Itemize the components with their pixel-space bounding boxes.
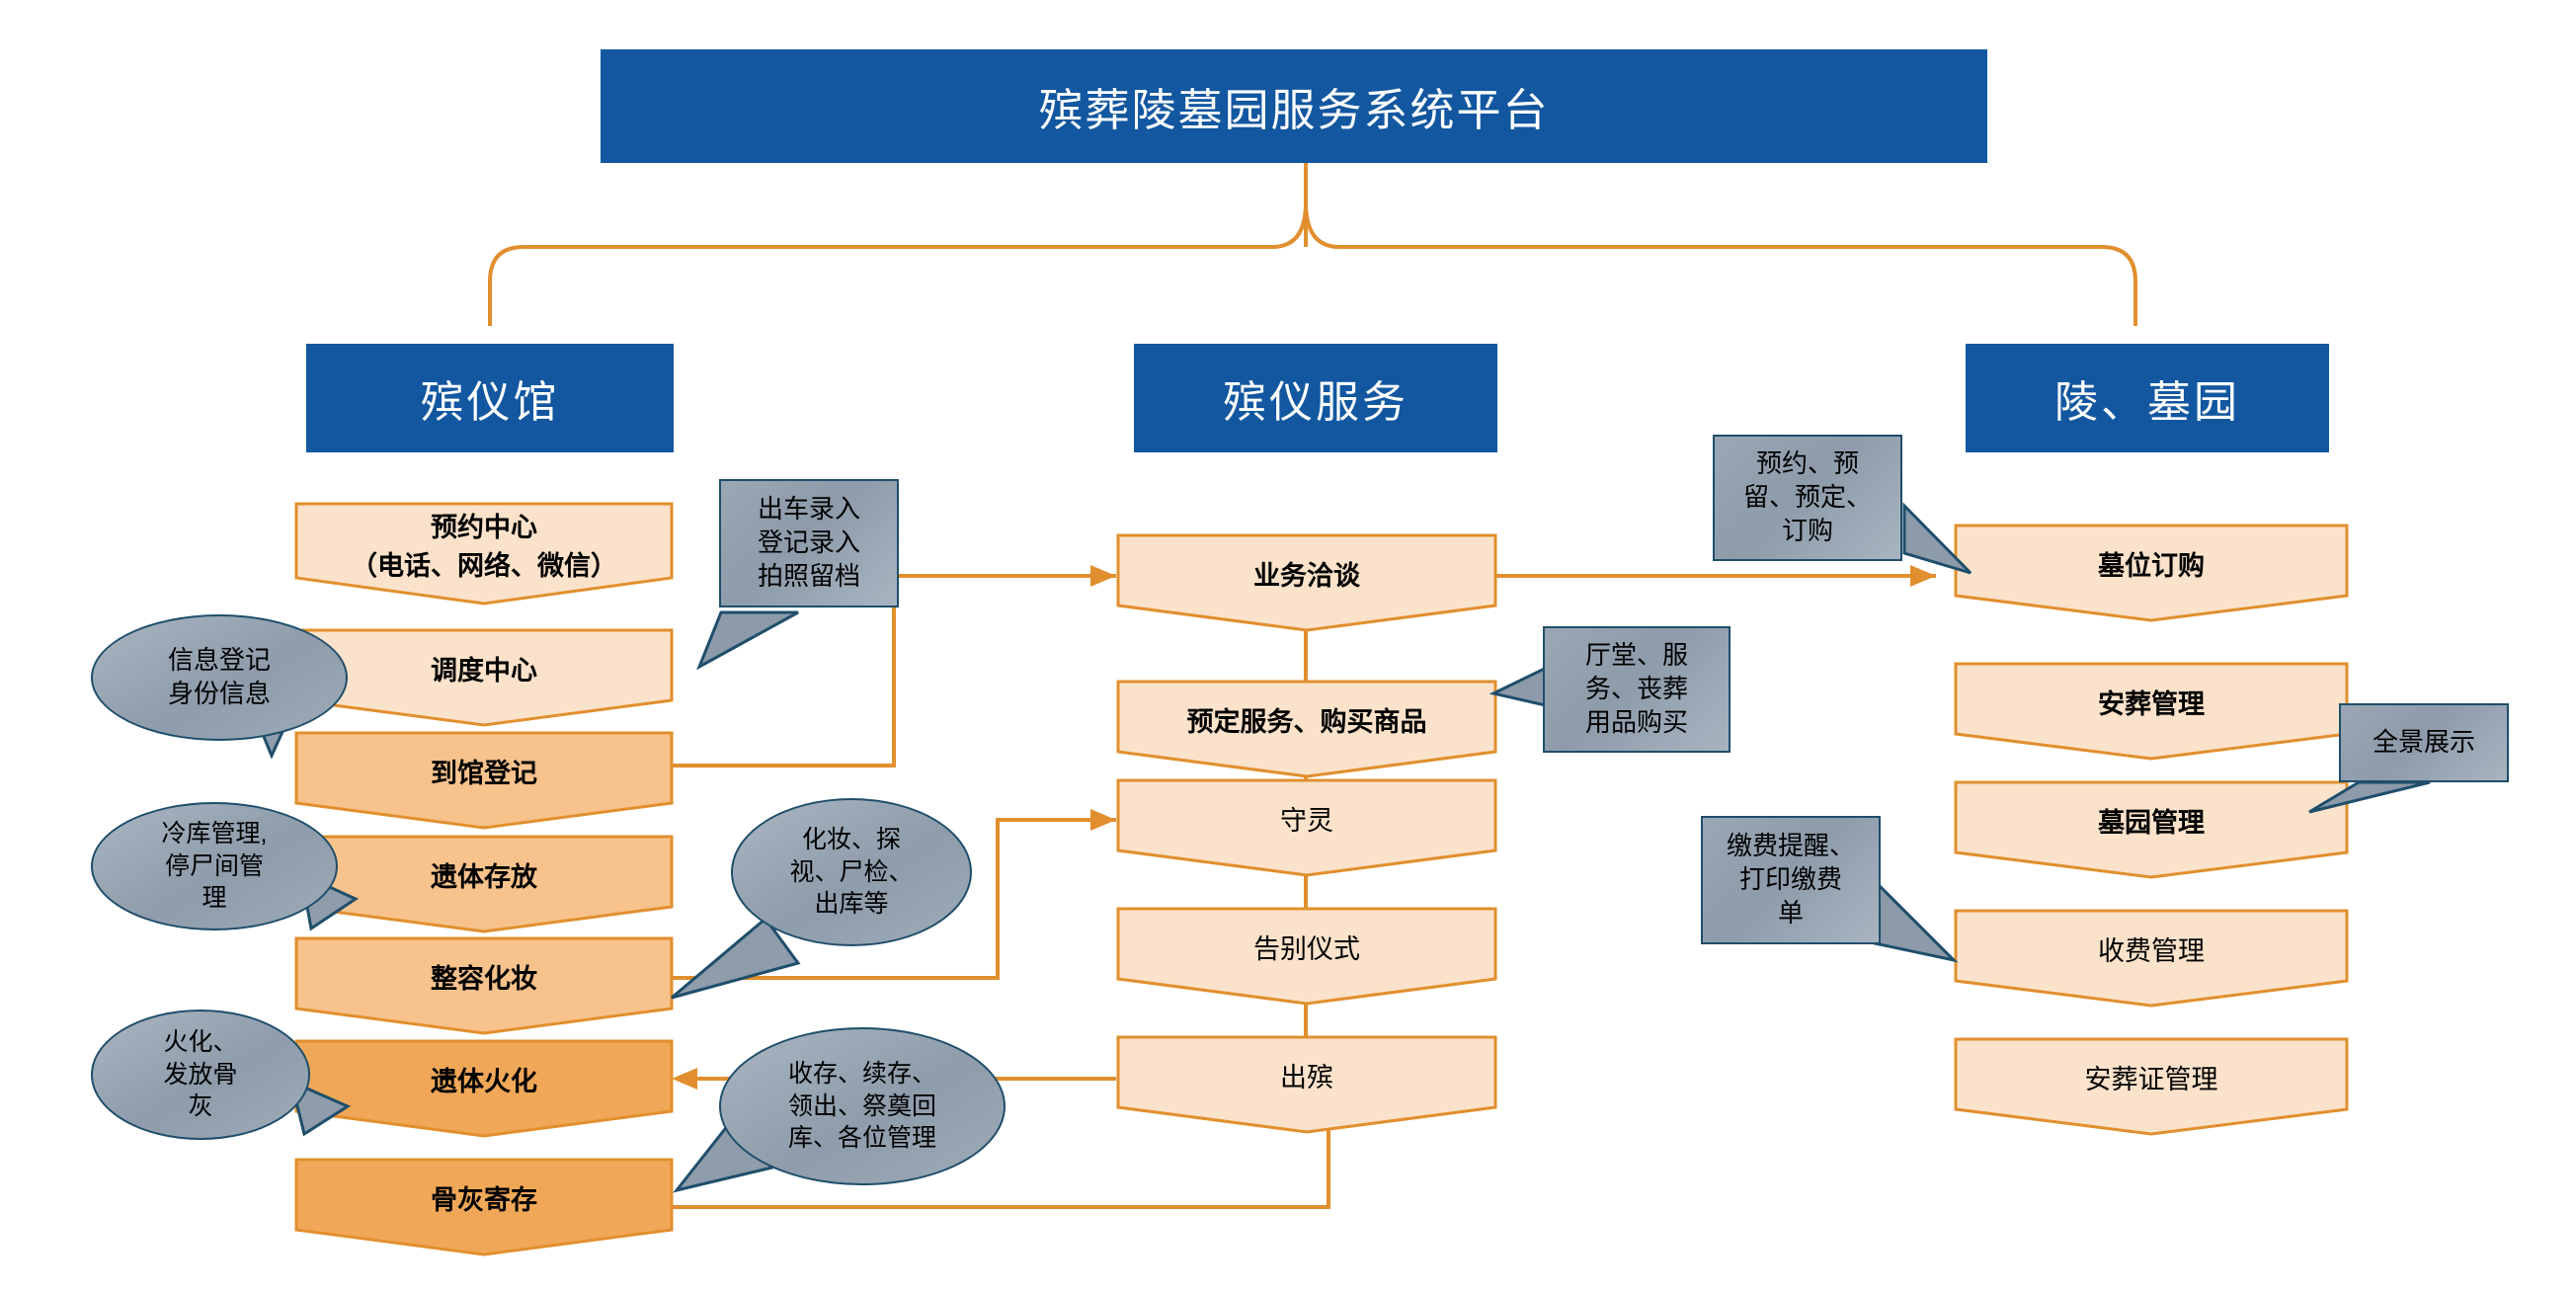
callout-tail-dispatch-entry xyxy=(691,593,909,711)
callout-panorama: 全景展示 xyxy=(2339,703,2509,782)
callout-text: 收存、续存、 领出、祭奠回 库、各位管理 xyxy=(788,1058,936,1155)
callout-text: 信息登记 身份信息 xyxy=(168,644,271,711)
callout-text: 缴费提醒、 打印缴费 单 xyxy=(1727,830,1855,930)
callout-text: 全景展示 xyxy=(2373,726,2475,760)
callout-layer: 信息登记 身份信息 冷库管理, 停尸间管 理 火化、 发放骨 灰 出车录入 登记… xyxy=(0,0,2576,1294)
callout-text: 冷库管理, 停尸间管 理 xyxy=(162,818,268,915)
callout-text: 火化、 发放骨 灰 xyxy=(163,1026,237,1123)
diagram-canvas: 殡葬陵墓园服务系统平台 殡仪馆 预约中心 （电话、网络、微信） 调度中心 到馆登… xyxy=(0,0,2576,1294)
callout-text: 化妆、探 视、尸检、 出库等 xyxy=(789,824,913,921)
callout-text: 厅堂、服 务、丧葬 用品购买 xyxy=(1585,639,1688,739)
callout-ash-storage-ops: 收存、续存、 领出、祭奠回 库、各位管理 xyxy=(719,1027,1006,1185)
callout-cold-storage: 冷库管理, 停尸间管 理 xyxy=(91,802,338,930)
callout-cremation-ashes: 火化、 发放骨 灰 xyxy=(91,1010,310,1140)
callout-dispatch-entry: 出车录入 登记录入 拍照留档 xyxy=(719,479,899,607)
callout-booking-reserve: 预约、预 留、预定、 订购 xyxy=(1713,435,1902,561)
callout-text: 出车录入 登记录入 拍照留档 xyxy=(758,493,860,593)
callout-info-registration: 信息登记 身份信息 xyxy=(91,614,348,741)
callout-makeup-viewing: 化妆、探 视、尸检、 出库等 xyxy=(731,798,972,946)
callout-hall-service-buy: 厅堂、服 务、丧葬 用品购买 xyxy=(1543,626,1731,753)
callout-text: 预约、预 留、预定、 订购 xyxy=(1743,447,1872,547)
callout-payment-reminder: 缴费提醒、 打印缴费 单 xyxy=(1701,816,1881,944)
